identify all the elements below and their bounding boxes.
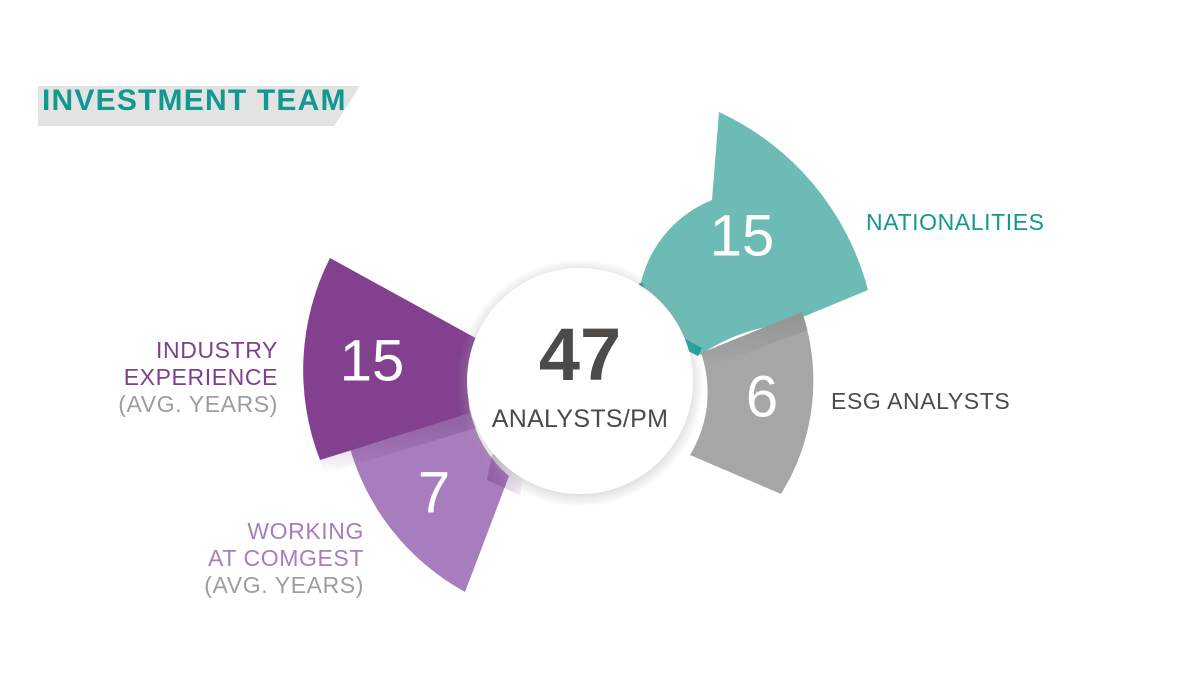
label-working: WORKING AT COMGEST (AVG. YEARS) xyxy=(204,518,364,599)
label-industry-note: (AVG. YEARS) xyxy=(118,391,278,418)
label-industry: INDUSTRY EXPERIENCE (AVG. YEARS) xyxy=(118,337,278,418)
label-working-line2: AT COMGEST xyxy=(204,545,364,572)
segment-working-value: 7 xyxy=(418,460,450,525)
center-disc[interactable]: 47 ANALYSTS/PM xyxy=(456,259,704,507)
center-value: 47 xyxy=(539,313,621,396)
label-esg: ESG ANALYSTS xyxy=(831,388,1010,415)
label-working-line1: WORKING xyxy=(204,518,364,545)
center-caption: ANALYSTS/PM xyxy=(492,405,669,433)
label-industry-line2: EXPERIENCE xyxy=(118,364,278,391)
label-nationalities: NATIONALITIES xyxy=(866,209,1045,236)
label-industry-line1: INDUSTRY xyxy=(118,337,278,364)
label-esg-text: ESG ANALYSTS xyxy=(831,388,1010,415)
label-nationalities-text: NATIONALITIES xyxy=(866,209,1045,236)
segment-nationalities-value: 15 xyxy=(710,203,775,268)
segment-esg-value: 6 xyxy=(746,364,778,429)
segment-industry-value: 15 xyxy=(340,328,405,393)
label-working-note: (AVG. YEARS) xyxy=(204,572,364,599)
